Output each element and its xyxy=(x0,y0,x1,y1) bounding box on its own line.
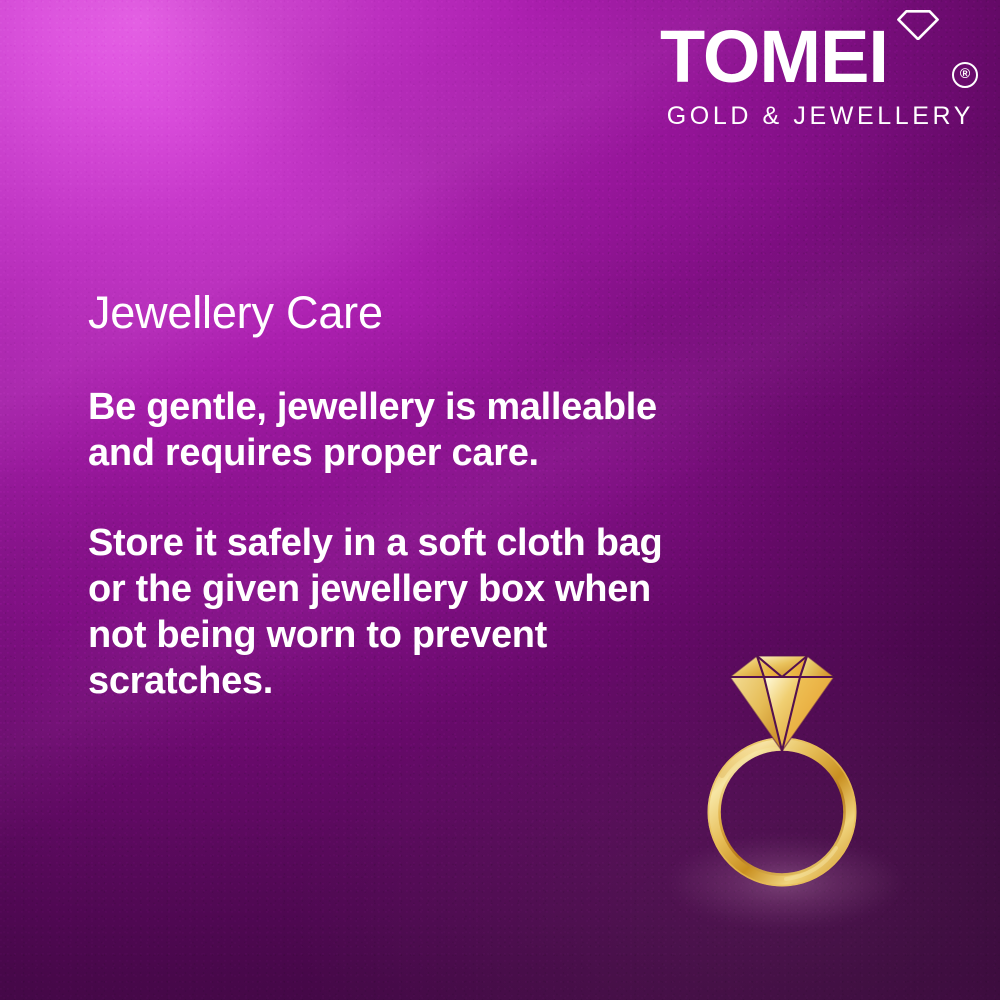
logo-wordmark-text: TOMEI xyxy=(660,20,888,94)
care-paragraph-2: Store it safely in a soft cloth bag or t… xyxy=(88,520,698,704)
care-copy-block: Jewellery Care Be gentle, jewellery is m… xyxy=(88,286,698,704)
poster-canvas: TOMEI ® GOLD & JEWELLERY Jewellery Care … xyxy=(0,0,1000,1000)
diamond-gem-icon xyxy=(730,656,834,751)
page-title: Jewellery Care xyxy=(88,286,698,340)
care-paragraph-1: Be gentle, jewellery is malleable and re… xyxy=(88,384,698,476)
ring-svg xyxy=(660,620,910,940)
diamond-outline-icon xyxy=(896,10,940,40)
logo-wordmark-row: TOMEI ® xyxy=(648,8,978,94)
registered-trademark-icon: ® xyxy=(952,62,978,88)
tomei-logo: TOMEI ® GOLD & JEWELLERY xyxy=(648,8,978,131)
logo-tagline: GOLD & JEWELLERY xyxy=(648,102,978,131)
diamond-ring-illustration xyxy=(660,620,910,940)
ring-band-icon xyxy=(708,738,855,885)
